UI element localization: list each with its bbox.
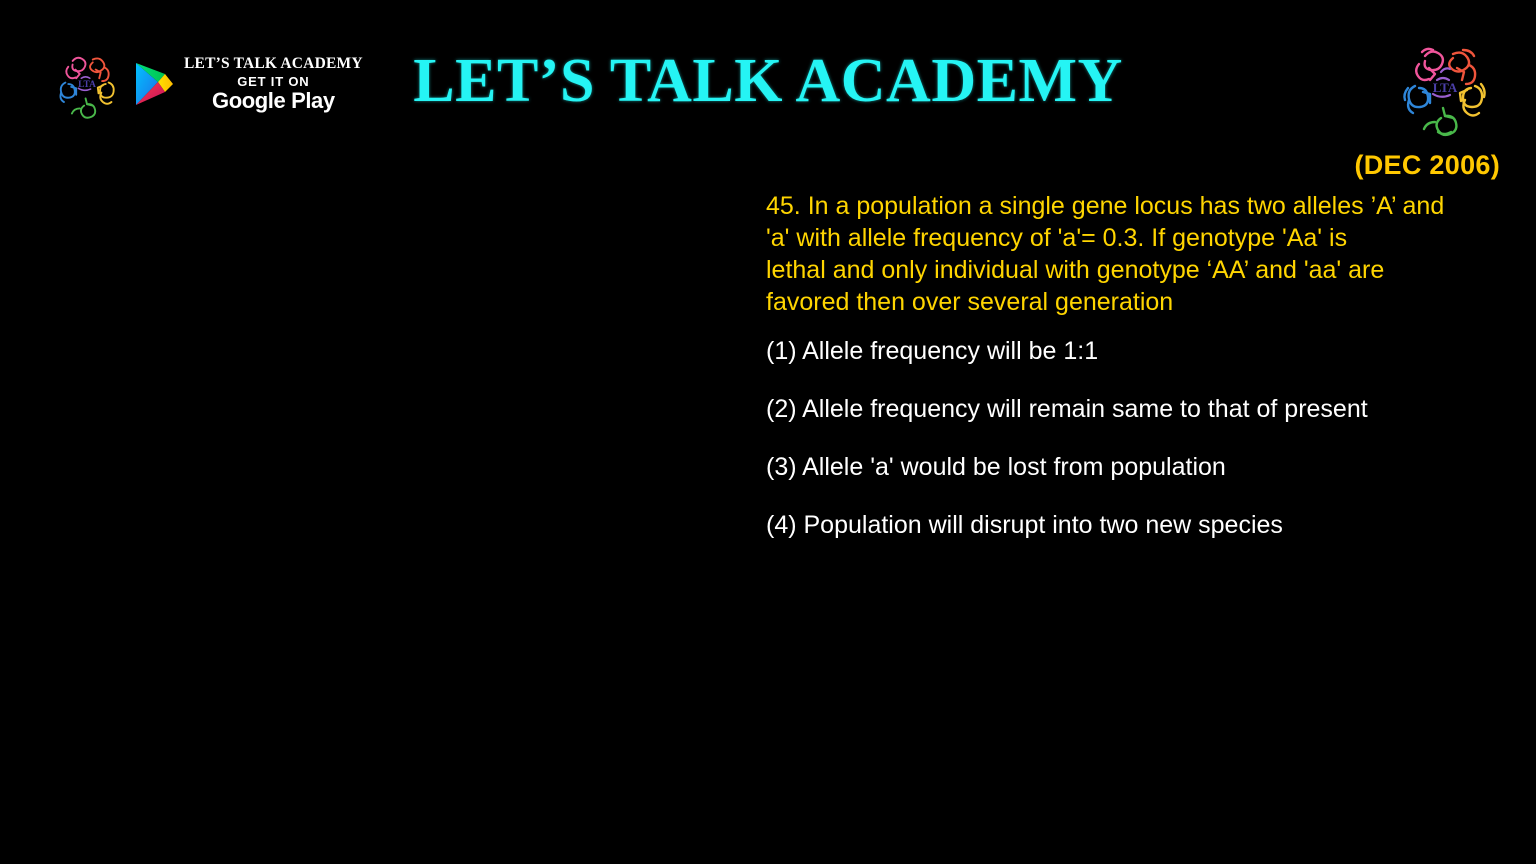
- page-title: LET’S TALK ACADEMY: [0, 50, 1536, 112]
- brand-right-group: LTA: [1392, 38, 1498, 138]
- option-3[interactable]: (3) Allele 'a' would be lost from popula…: [766, 452, 1506, 482]
- option-2[interactable]: (2) Allele frequency will remain same to…: [766, 394, 1506, 424]
- answer-options-list: (1) Allele frequency will be 1:1 (2) All…: [766, 336, 1506, 540]
- lta-logo-icon: LTA: [1392, 38, 1498, 138]
- question-line: favored then over several generation: [766, 286, 1496, 318]
- svg-text:LTA: LTA: [1433, 80, 1458, 95]
- question-line: 'a' with allele frequency of 'a'= 0.3. I…: [766, 222, 1496, 254]
- question-line: 45. In a population a single gene locus …: [766, 190, 1496, 222]
- option-1[interactable]: (1) Allele frequency will be 1:1: [766, 336, 1506, 366]
- slide-canvas: LTA: [0, 0, 1536, 864]
- question-text-block: 45. In a population a single gene locus …: [766, 190, 1496, 318]
- option-4[interactable]: (4) Population will disrupt into two new…: [766, 510, 1506, 540]
- exam-session-badge: (DEC 2006): [1354, 150, 1500, 181]
- question-line: lethal and only individual with genotype…: [766, 254, 1496, 286]
